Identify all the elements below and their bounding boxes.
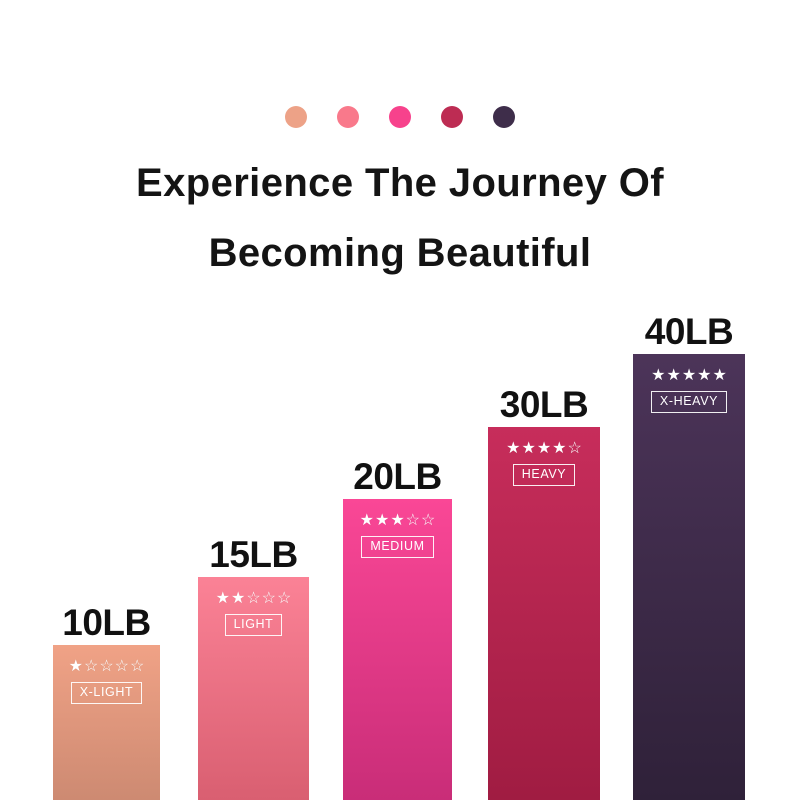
bar-content: ★★★☆☆MEDIUM (343, 513, 452, 558)
bar-column[interactable]: ★☆☆☆☆X-LIGHT (53, 645, 160, 800)
level-badge: LIGHT (225, 614, 283, 636)
star-filled-icon: ★ (216, 591, 230, 607)
bar-weight-label: 15LB (209, 536, 297, 573)
star-empty-icon: ☆ (262, 591, 276, 607)
rating-stars: ★☆☆☆☆ (69, 659, 145, 675)
bar-group-30lb[interactable]: 30LB★★★★☆HEAVY (488, 427, 600, 800)
star-filled-icon: ★ (375, 513, 389, 529)
star-filled-icon: ★ (666, 368, 680, 384)
bar-content: ★★☆☆☆LIGHT (198, 591, 309, 636)
star-filled-icon: ★ (697, 368, 711, 384)
star-empty-icon: ☆ (99, 659, 113, 675)
star-empty-icon: ☆ (277, 591, 291, 607)
bar-content: ★☆☆☆☆X-LIGHT (53, 659, 160, 704)
rating-stars: ★★★☆☆ (360, 513, 436, 529)
star-filled-icon: ★ (360, 513, 374, 529)
bar-content: ★★★★★X-HEAVY (633, 368, 745, 413)
star-filled-icon: ★ (537, 441, 551, 457)
rating-stars: ★★★★★ (651, 368, 727, 384)
bar-column[interactable]: ★★☆☆☆LIGHT (198, 577, 309, 800)
bar-column[interactable]: ★★★★☆HEAVY (488, 427, 600, 800)
star-empty-icon: ☆ (568, 441, 582, 457)
bar-group-10lb[interactable]: 10LB★☆☆☆☆X-LIGHT (53, 645, 160, 800)
star-filled-icon: ★ (713, 368, 727, 384)
star-filled-icon: ★ (69, 659, 83, 675)
star-filled-icon: ★ (521, 441, 535, 457)
bar-column[interactable]: ★★★★★X-HEAVY (633, 354, 745, 800)
bar-weight-label: 20LB (353, 458, 441, 495)
bar-weight-label: 10LB (62, 604, 150, 641)
star-filled-icon: ★ (390, 513, 404, 529)
star-filled-icon: ★ (552, 441, 566, 457)
bar-group-15lb[interactable]: 15LB★★☆☆☆LIGHT (198, 577, 309, 800)
bar-weight-label: 30LB (500, 386, 588, 423)
resistance-band-bar-chart: 10LB★☆☆☆☆X-LIGHT15LB★★☆☆☆LIGHT20LB★★★☆☆M… (0, 0, 800, 800)
rating-stars: ★★☆☆☆ (216, 591, 292, 607)
rating-stars: ★★★★☆ (506, 441, 582, 457)
star-empty-icon: ☆ (246, 591, 260, 607)
star-empty-icon: ☆ (84, 659, 98, 675)
star-empty-icon: ☆ (130, 659, 144, 675)
star-filled-icon: ★ (682, 368, 696, 384)
star-filled-icon: ★ (651, 368, 665, 384)
level-badge: HEAVY (513, 464, 575, 486)
level-badge: X-LIGHT (71, 682, 143, 704)
star-empty-icon: ☆ (421, 513, 435, 529)
level-badge: X-HEAVY (651, 391, 727, 413)
level-badge: MEDIUM (361, 536, 433, 558)
bar-weight-label: 40LB (645, 313, 733, 350)
star-filled-icon: ★ (231, 591, 245, 607)
star-empty-icon: ☆ (115, 659, 129, 675)
bar-group-20lb[interactable]: 20LB★★★☆☆MEDIUM (343, 499, 452, 800)
star-empty-icon: ☆ (406, 513, 420, 529)
star-filled-icon: ★ (506, 441, 520, 457)
bar-content: ★★★★☆HEAVY (488, 441, 600, 486)
bar-column[interactable]: ★★★☆☆MEDIUM (343, 499, 452, 800)
bar-group-40lb[interactable]: 40LB★★★★★X-HEAVY (633, 354, 745, 800)
promo-graphic: Experience The Journey Of Becoming Beaut… (0, 0, 800, 800)
